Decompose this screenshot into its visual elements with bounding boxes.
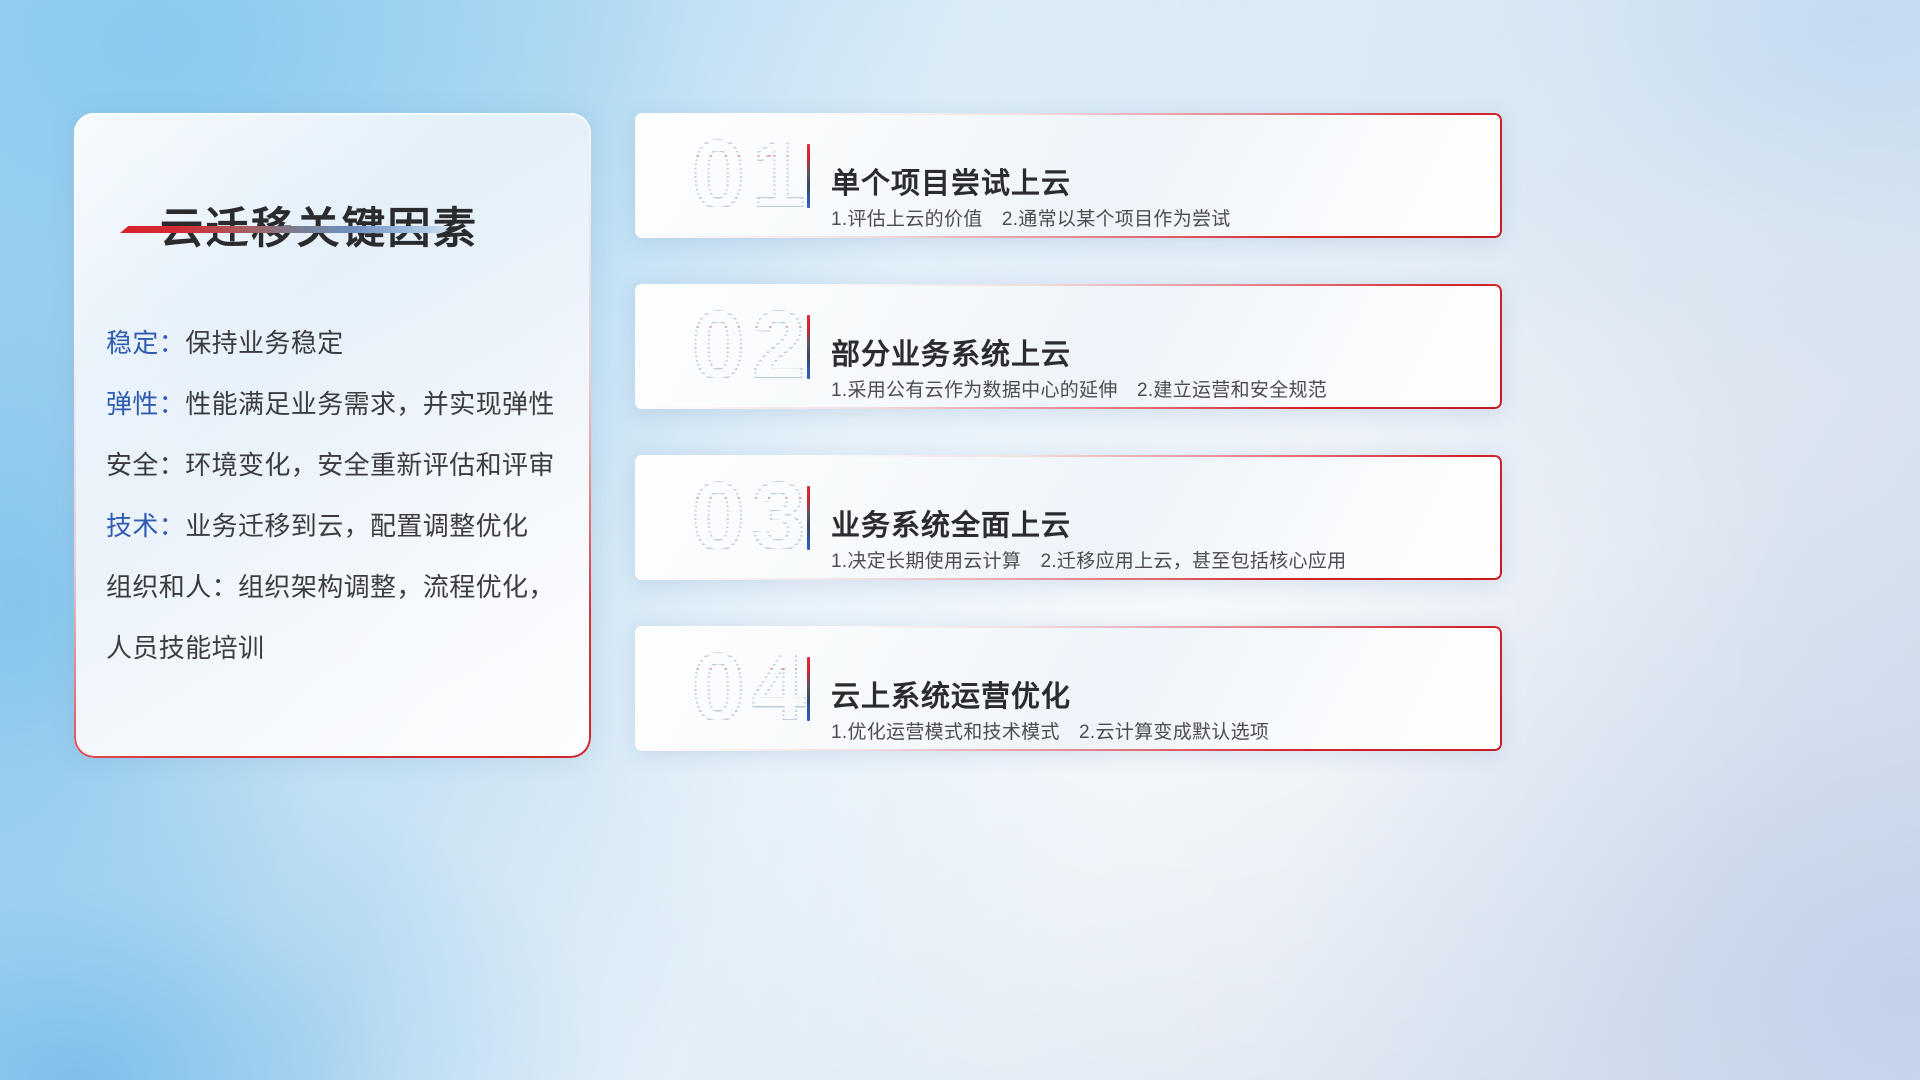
page-title: 云迁移关键因素: [160, 194, 479, 256]
step-number-glitch: 03: [657, 455, 847, 580]
step-title: 业务系统全面上云: [831, 502, 1071, 544]
step-divider-bar: [807, 144, 810, 208]
step-number-glitch: 04: [657, 626, 847, 751]
factor-label: 组织和人：: [106, 572, 238, 602]
step-description: 1.优化运营模式和技术模式 2.云计算变成默认选项: [831, 717, 1269, 744]
list-item: 稳定：保持业务稳定: [106, 313, 571, 374]
factor-text: 组织架构调整，流程优化，: [238, 572, 555, 602]
step-number-glitch: 01: [657, 113, 847, 238]
list-item: 组织和人：组织架构调整，流程优化，: [106, 557, 571, 618]
step-description: 1.决定长期使用云计算 2.迁移应用上云，甚至包括核心应用: [831, 546, 1346, 573]
step-description: 1.评估上云的价值 2.通常以某个项目作为尝试: [831, 204, 1231, 231]
factor-text: 保持业务稳定: [185, 328, 343, 358]
list-item: 人员技能培训: [106, 618, 571, 679]
step-card-04[interactable]: 04 04 云上系统运营优化 1.优化运营模式和技术模式 2.云计算变成默认选项: [635, 626, 1502, 751]
step-number-03: 03 03: [657, 455, 847, 580]
factor-text: 人员技能培训: [106, 633, 264, 663]
factor-text: 业务迁移到云，配置调整优化: [185, 511, 528, 541]
factor-label: 稳定：: [106, 328, 185, 358]
step-divider-bar: [807, 486, 810, 550]
list-item: 技术：业务迁移到云，配置调整优化: [106, 496, 571, 557]
step-number-02: 02 02: [657, 284, 847, 409]
slide-stage: 云迁移关键因素 稳定：保持业务稳定 弹性：性能满足业务需求，并实现弹性 安全：环…: [0, 0, 1920, 1080]
step-title: 单个项目尝试上云: [831, 160, 1071, 202]
step-number-04: 04 04: [657, 626, 847, 751]
step-card-02[interactable]: 02 02 部分业务系统上云 1.采用公有云作为数据中心的延伸 2.建立运营和安…: [635, 284, 1502, 409]
step-divider-bar: [807, 315, 810, 379]
step-number-01: 01 01: [657, 113, 847, 238]
step-card-01[interactable]: 01 01 单个项目尝试上云 1.评估上云的价值 2.通常以某个项目作为尝试: [635, 113, 1502, 238]
factor-label: 安全：: [106, 450, 185, 480]
factor-text: 环境变化，安全重新评估和评审: [185, 450, 555, 480]
factor-list: 稳定：保持业务稳定 弹性：性能满足业务需求，并实现弹性 安全：环境变化，安全重新…: [106, 313, 571, 679]
step-number-glitch: 02: [657, 284, 847, 409]
step-divider-bar: [807, 657, 810, 721]
step-description: 1.采用公有云作为数据中心的延伸 2.建立运营和安全规范: [831, 375, 1327, 402]
title-underline-rule: [120, 226, 450, 233]
step-title: 云上系统运营优化: [831, 673, 1071, 715]
factor-label: 技术：: [106, 511, 185, 541]
key-factors-panel: 云迁移关键因素 稳定：保持业务稳定 弹性：性能满足业务需求，并实现弹性 安全：环…: [74, 113, 591, 758]
list-item: 安全：环境变化，安全重新评估和评审: [106, 435, 571, 496]
factor-label: 弹性：: [106, 389, 185, 419]
step-title: 部分业务系统上云: [831, 331, 1071, 373]
step-card-03[interactable]: 03 03 业务系统全面上云 1.决定长期使用云计算 2.迁移应用上云，甚至包括…: [635, 455, 1502, 580]
list-item: 弹性：性能满足业务需求，并实现弹性: [106, 374, 571, 435]
factor-text: 性能满足业务需求，并实现弹性: [185, 389, 555, 419]
